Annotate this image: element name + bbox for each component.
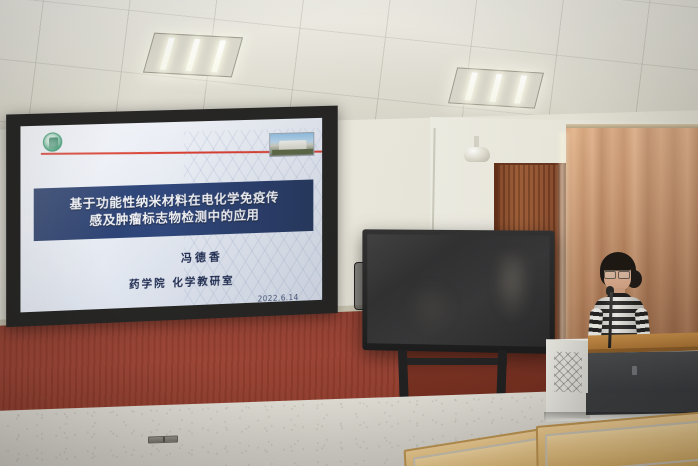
slide-title-bar: 基于功能性纳米材料在电化学免疫传 感及肿瘤标志物检测中的应用 [34, 179, 314, 241]
ceiling-light-panel-left [143, 33, 243, 78]
light-tube [160, 38, 175, 70]
lecture-hall-scene: 基于功能性纳米材料在电化学免疫传 感及肿瘤标志物检测中的应用 冯德香 药学院 化… [0, 0, 698, 466]
projection-screen[interactable]: 基于功能性纳米材料在电化学免疫传 感及肿瘤标志物检测中的应用 冯德香 药学院 化… [6, 106, 338, 328]
university-emblem-icon [43, 132, 62, 152]
screen-reflection-secondary [408, 282, 454, 333]
presenter-speaker [588, 252, 650, 347]
light-tube [211, 40, 226, 72]
podium-lock-icon[interactable] [632, 366, 637, 375]
display-stand-crossbar [399, 358, 507, 365]
slide-date: 2022.6.14 [258, 293, 299, 304]
interactive-flat-panel-display[interactable] [362, 229, 554, 354]
screen-reflection [493, 253, 531, 322]
flat-panel-screen [367, 234, 549, 347]
floor-power-outlet[interactable] [148, 435, 178, 443]
projection-screen-surface: 基于功能性纳米材料在电化学免疫传 感及肿瘤标志物检测中的应用 冯德香 药学院 化… [20, 118, 322, 313]
light-tube [464, 72, 477, 100]
desk-surface-inset [545, 420, 698, 466]
light-tube [514, 75, 527, 103]
light-tube [186, 39, 201, 71]
podium-front-panel [588, 351, 698, 395]
ceiling-light-panel-right [448, 67, 544, 108]
curtain-edge-light [560, 132, 570, 344]
presenter-fringe [602, 257, 632, 270]
dome-security-camera [464, 147, 490, 162]
podium-speaker-grille [554, 352, 582, 393]
light-tube [489, 74, 502, 102]
eyeglasses-icon [604, 270, 630, 276]
campus-building-photo [269, 132, 314, 157]
